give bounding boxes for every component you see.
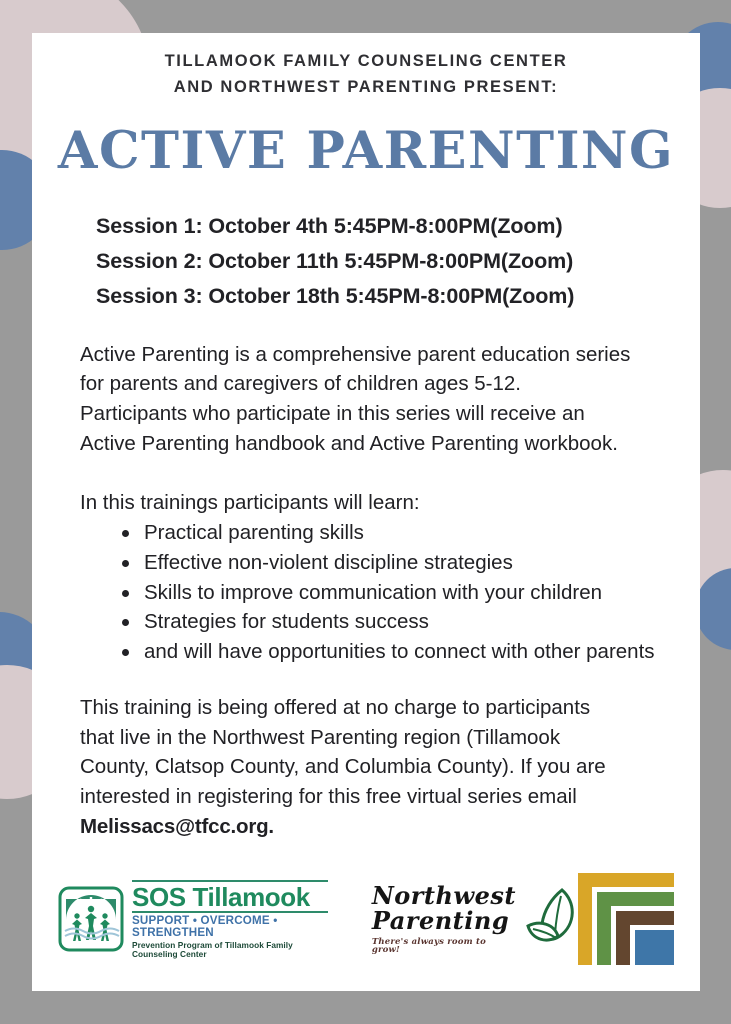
closing-line: that live in the Northwest Parenting reg… <box>80 723 676 753</box>
sos-name: SOS Tillamook <box>132 882 328 911</box>
intro-line: Active Parenting is a comprehensive pare… <box>80 340 676 370</box>
northwest-parenting-wordmark: Northwest Parenting There's always room … <box>372 884 516 955</box>
learn-list: Practical parenting skills Effective non… <box>80 518 676 667</box>
intro-line: Active Parenting handbook and Active Par… <box>80 429 676 459</box>
logo-strip: SOS Tillamook SUPPORT • OVERCOME • STREN… <box>32 869 700 969</box>
northwest-parenting-logo: Northwest Parenting There's always room … <box>372 884 578 955</box>
sos-tagline: SUPPORT • OVERCOME • STRENGTHEN <box>132 911 328 940</box>
sos-tillamook-logo: SOS Tillamook SUPPORT • OVERCOME • STREN… <box>58 880 328 958</box>
session-row: Session 1: October 4th 5:45PM-8:00PM(Zoo… <box>96 209 700 244</box>
nwp-line-1: Northwest <box>372 884 516 908</box>
flyer: TILLAMOOK FAMILY COUNSELING CENTER AND N… <box>0 0 731 1024</box>
presenter-header: TILLAMOOK FAMILY COUNSELING CENTER AND N… <box>32 33 700 100</box>
nwp-line-2: Parenting <box>372 909 516 933</box>
body-copy: Active Parenting is a comprehensive pare… <box>32 340 700 842</box>
content-card: TILLAMOOK FAMILY COUNSELING CENTER AND N… <box>32 33 700 991</box>
list-item: and will have opportunities to connect w… <box>118 637 676 667</box>
closing-paragraph: This training is being offered at no cha… <box>80 693 676 842</box>
list-item: Effective non-violent discipline strateg… <box>118 548 676 578</box>
closing-line: This training is being offered at no cha… <box>80 693 676 723</box>
contact-email[interactable]: Melissacs@tfcc.org. <box>80 812 676 842</box>
sos-wordmark: SOS Tillamook SUPPORT • OVERCOME • STREN… <box>132 880 328 958</box>
intro-line: Participants who participate in this ser… <box>80 399 676 429</box>
nested-corner-logo <box>578 873 674 965</box>
leaf-icon <box>522 886 578 952</box>
list-item: Skills to improve communication with you… <box>118 578 676 608</box>
closing-line: County, Clatsop County, and Columbia Cou… <box>80 752 676 782</box>
closing-line: interested in registering for this free … <box>80 782 676 812</box>
intro-paragraph: Active Parenting is a comprehensive pare… <box>80 340 676 459</box>
list-item: Practical parenting skills <box>118 518 676 548</box>
session-row: Session 3: October 18th 5:45PM-8:00PM(Zo… <box>96 279 700 314</box>
sos-sunburst-figures-icon <box>58 886 124 952</box>
session-row: Session 2: October 11th 5:45PM-8:00PM(Zo… <box>96 244 700 279</box>
header-line-1: TILLAMOOK FAMILY COUNSELING CENTER <box>32 49 700 75</box>
sos-subtitle: Prevention Program of Tillamook Family C… <box>132 940 328 958</box>
list-item: Strategies for students success <box>118 607 676 637</box>
nwp-tagline: There's always room to grow! <box>372 938 516 955</box>
page-title: ACTIVE PARENTING <box>32 126 700 177</box>
learn-lead-in: In this trainings participants will lear… <box>80 488 676 518</box>
header-line-2: AND NORTHWEST PARENTING PRESENT: <box>32 75 700 101</box>
session-schedule: Session 1: October 4th 5:45PM-8:00PM(Zoo… <box>32 209 700 313</box>
intro-line: for parents and caregivers of children a… <box>80 369 676 399</box>
